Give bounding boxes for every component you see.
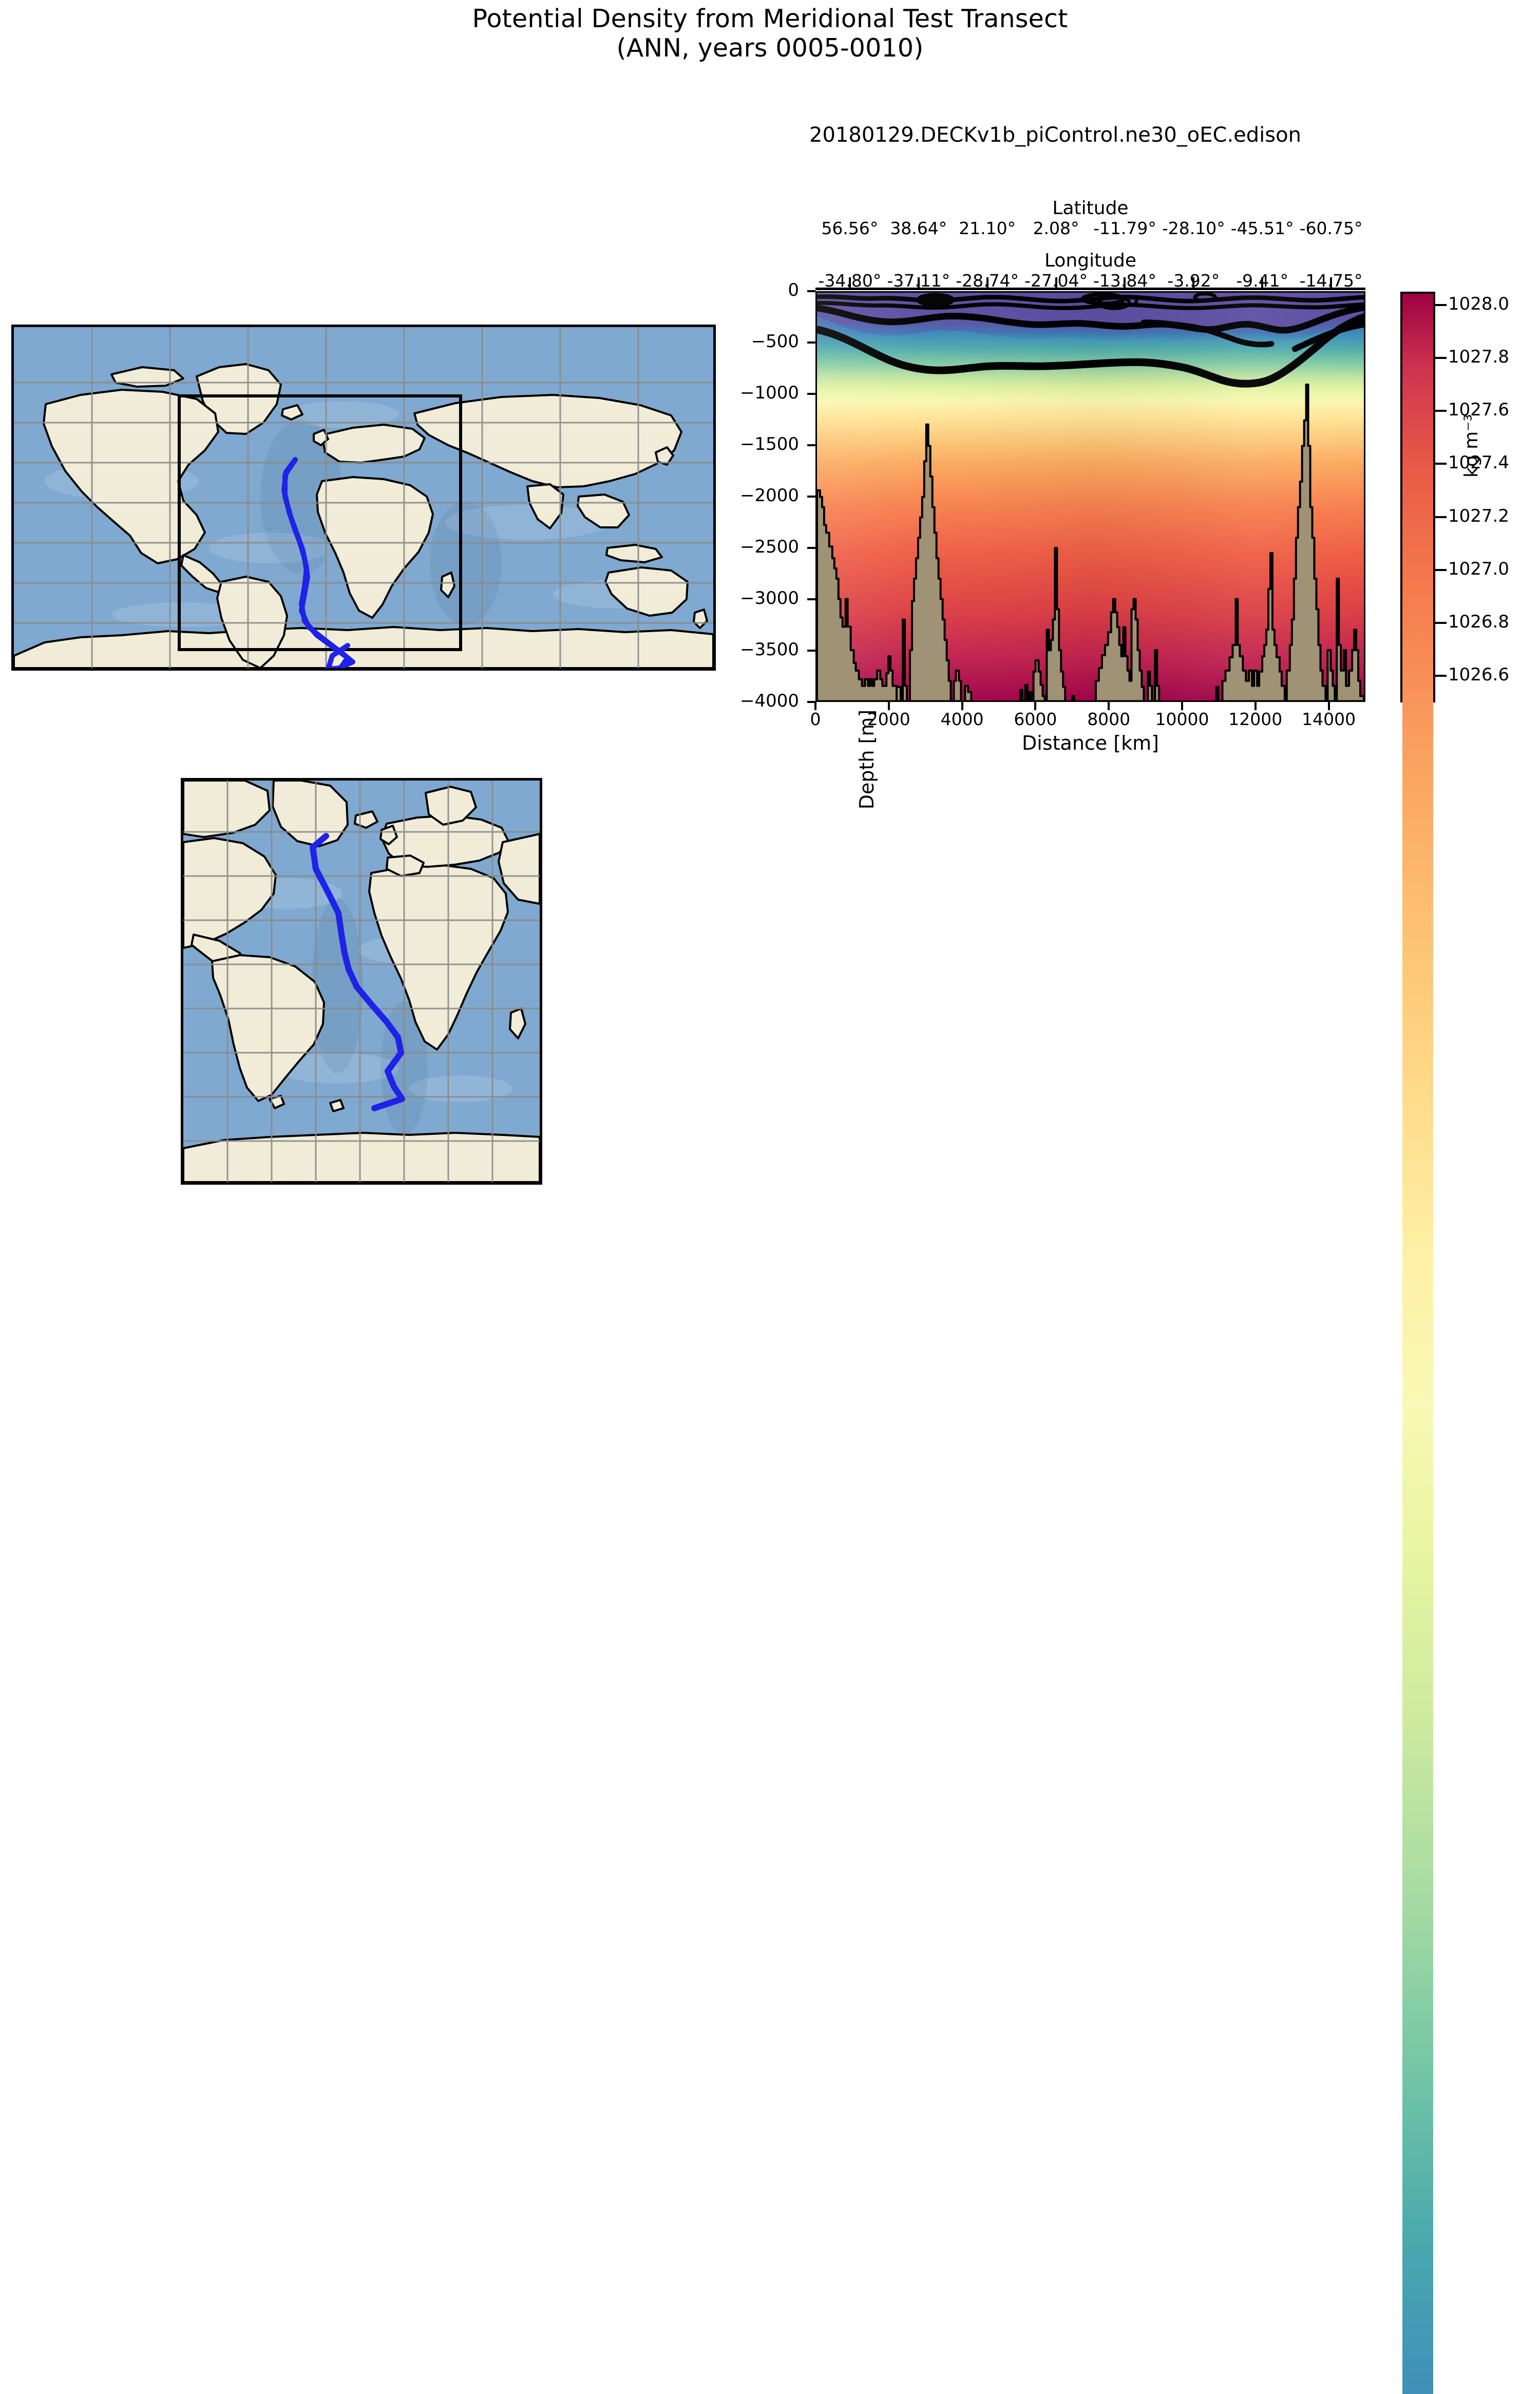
top-tickmark: [986, 277, 988, 289]
global-transect-map[interactable]: [11, 325, 716, 671]
colorbar-tickmark: [1435, 410, 1447, 412]
colorbar-tick-label: 1028.0: [1448, 294, 1509, 314]
top-tickmark: [849, 277, 851, 289]
figure-title-line2: (ANN, years 0005-0010): [0, 33, 1540, 63]
top-tickmark: [1330, 277, 1332, 289]
latitude-tick-label: -60.75°: [1275, 218, 1387, 238]
figure-title: Potential Density from Meridional Test T…: [0, 4, 1540, 63]
distance-tickmark: [1108, 702, 1110, 710]
colorbar-tickmark: [1435, 569, 1447, 571]
colorbar-tick-label: 1026.8: [1448, 612, 1509, 632]
depth-tickmark: [807, 650, 815, 652]
top-tickmark: [918, 277, 920, 289]
colorbar-tickmark: [1435, 304, 1447, 306]
depth-tick-label: 0: [681, 280, 799, 300]
colorbar-tickmark: [1435, 675, 1447, 677]
depth-tickmark: [807, 598, 815, 600]
colorbar-tickmark: [1435, 357, 1447, 359]
density-field: [817, 293, 1364, 701]
regional-transect-map[interactable]: [181, 778, 542, 1185]
distance-tickmark: [1181, 702, 1183, 710]
distance-tickmark: [888, 702, 890, 710]
run-name-title: 20180129.DECKv1b_piControl.ne30_oEC.edis…: [734, 123, 1376, 147]
depth-tickmark: [807, 393, 815, 395]
distance-tickmark: [961, 702, 963, 710]
top-tickmark: [1261, 277, 1263, 289]
cross-section-plot: Depth [m]: [815, 291, 1365, 702]
top-tickmark: [1124, 277, 1126, 289]
depth-tickmark: [807, 444, 815, 446]
cross-section-canvas: [815, 291, 1365, 702]
distance-tickmark: [814, 702, 816, 710]
top-tickmark: [1055, 277, 1057, 289]
depth-tickmark: [807, 341, 815, 344]
distance-tick-label: 14000: [1272, 709, 1385, 729]
depth-axis-label: Depth [m]: [855, 667, 878, 852]
figure-title-line1: Potential Density from Meridional Test T…: [472, 4, 1068, 33]
top-tickmark: [1192, 277, 1194, 289]
colorbar-tickmark: [1435, 463, 1447, 465]
distance-tickmark: [1328, 702, 1330, 710]
colorbar-unit-label: kg m⁻³: [1461, 324, 1482, 478]
depth-tickmark: [807, 547, 815, 549]
distance-axis-label: Distance [km]: [815, 732, 1365, 754]
depth-tickmark: [807, 496, 815, 498]
colorbar-tick-label: 1026.6: [1448, 664, 1509, 685]
latitude-axis-label: Latitude: [815, 198, 1365, 219]
colorbar-tick-label: 1027.0: [1448, 559, 1509, 579]
longitude-axis-label: Longitude: [815, 250, 1365, 271]
colorbar-tickmark: [1435, 516, 1447, 518]
colorbar: [1400, 292, 1435, 702]
colorbar-tickmark: [1435, 622, 1447, 624]
colorbar-tick-label: 1027.2: [1448, 506, 1509, 526]
top-axis-line: [815, 288, 1365, 290]
global-map-svg: [14, 327, 713, 668]
colorbar-gradient: [1402, 294, 1433, 2394]
depth-tick-label: −4000: [681, 691, 799, 711]
depth-tickmark: [807, 290, 815, 292]
distance-tickmark: [1034, 702, 1036, 710]
distance-tickmark: [1254, 702, 1257, 710]
regional-map-svg: [183, 781, 540, 1182]
